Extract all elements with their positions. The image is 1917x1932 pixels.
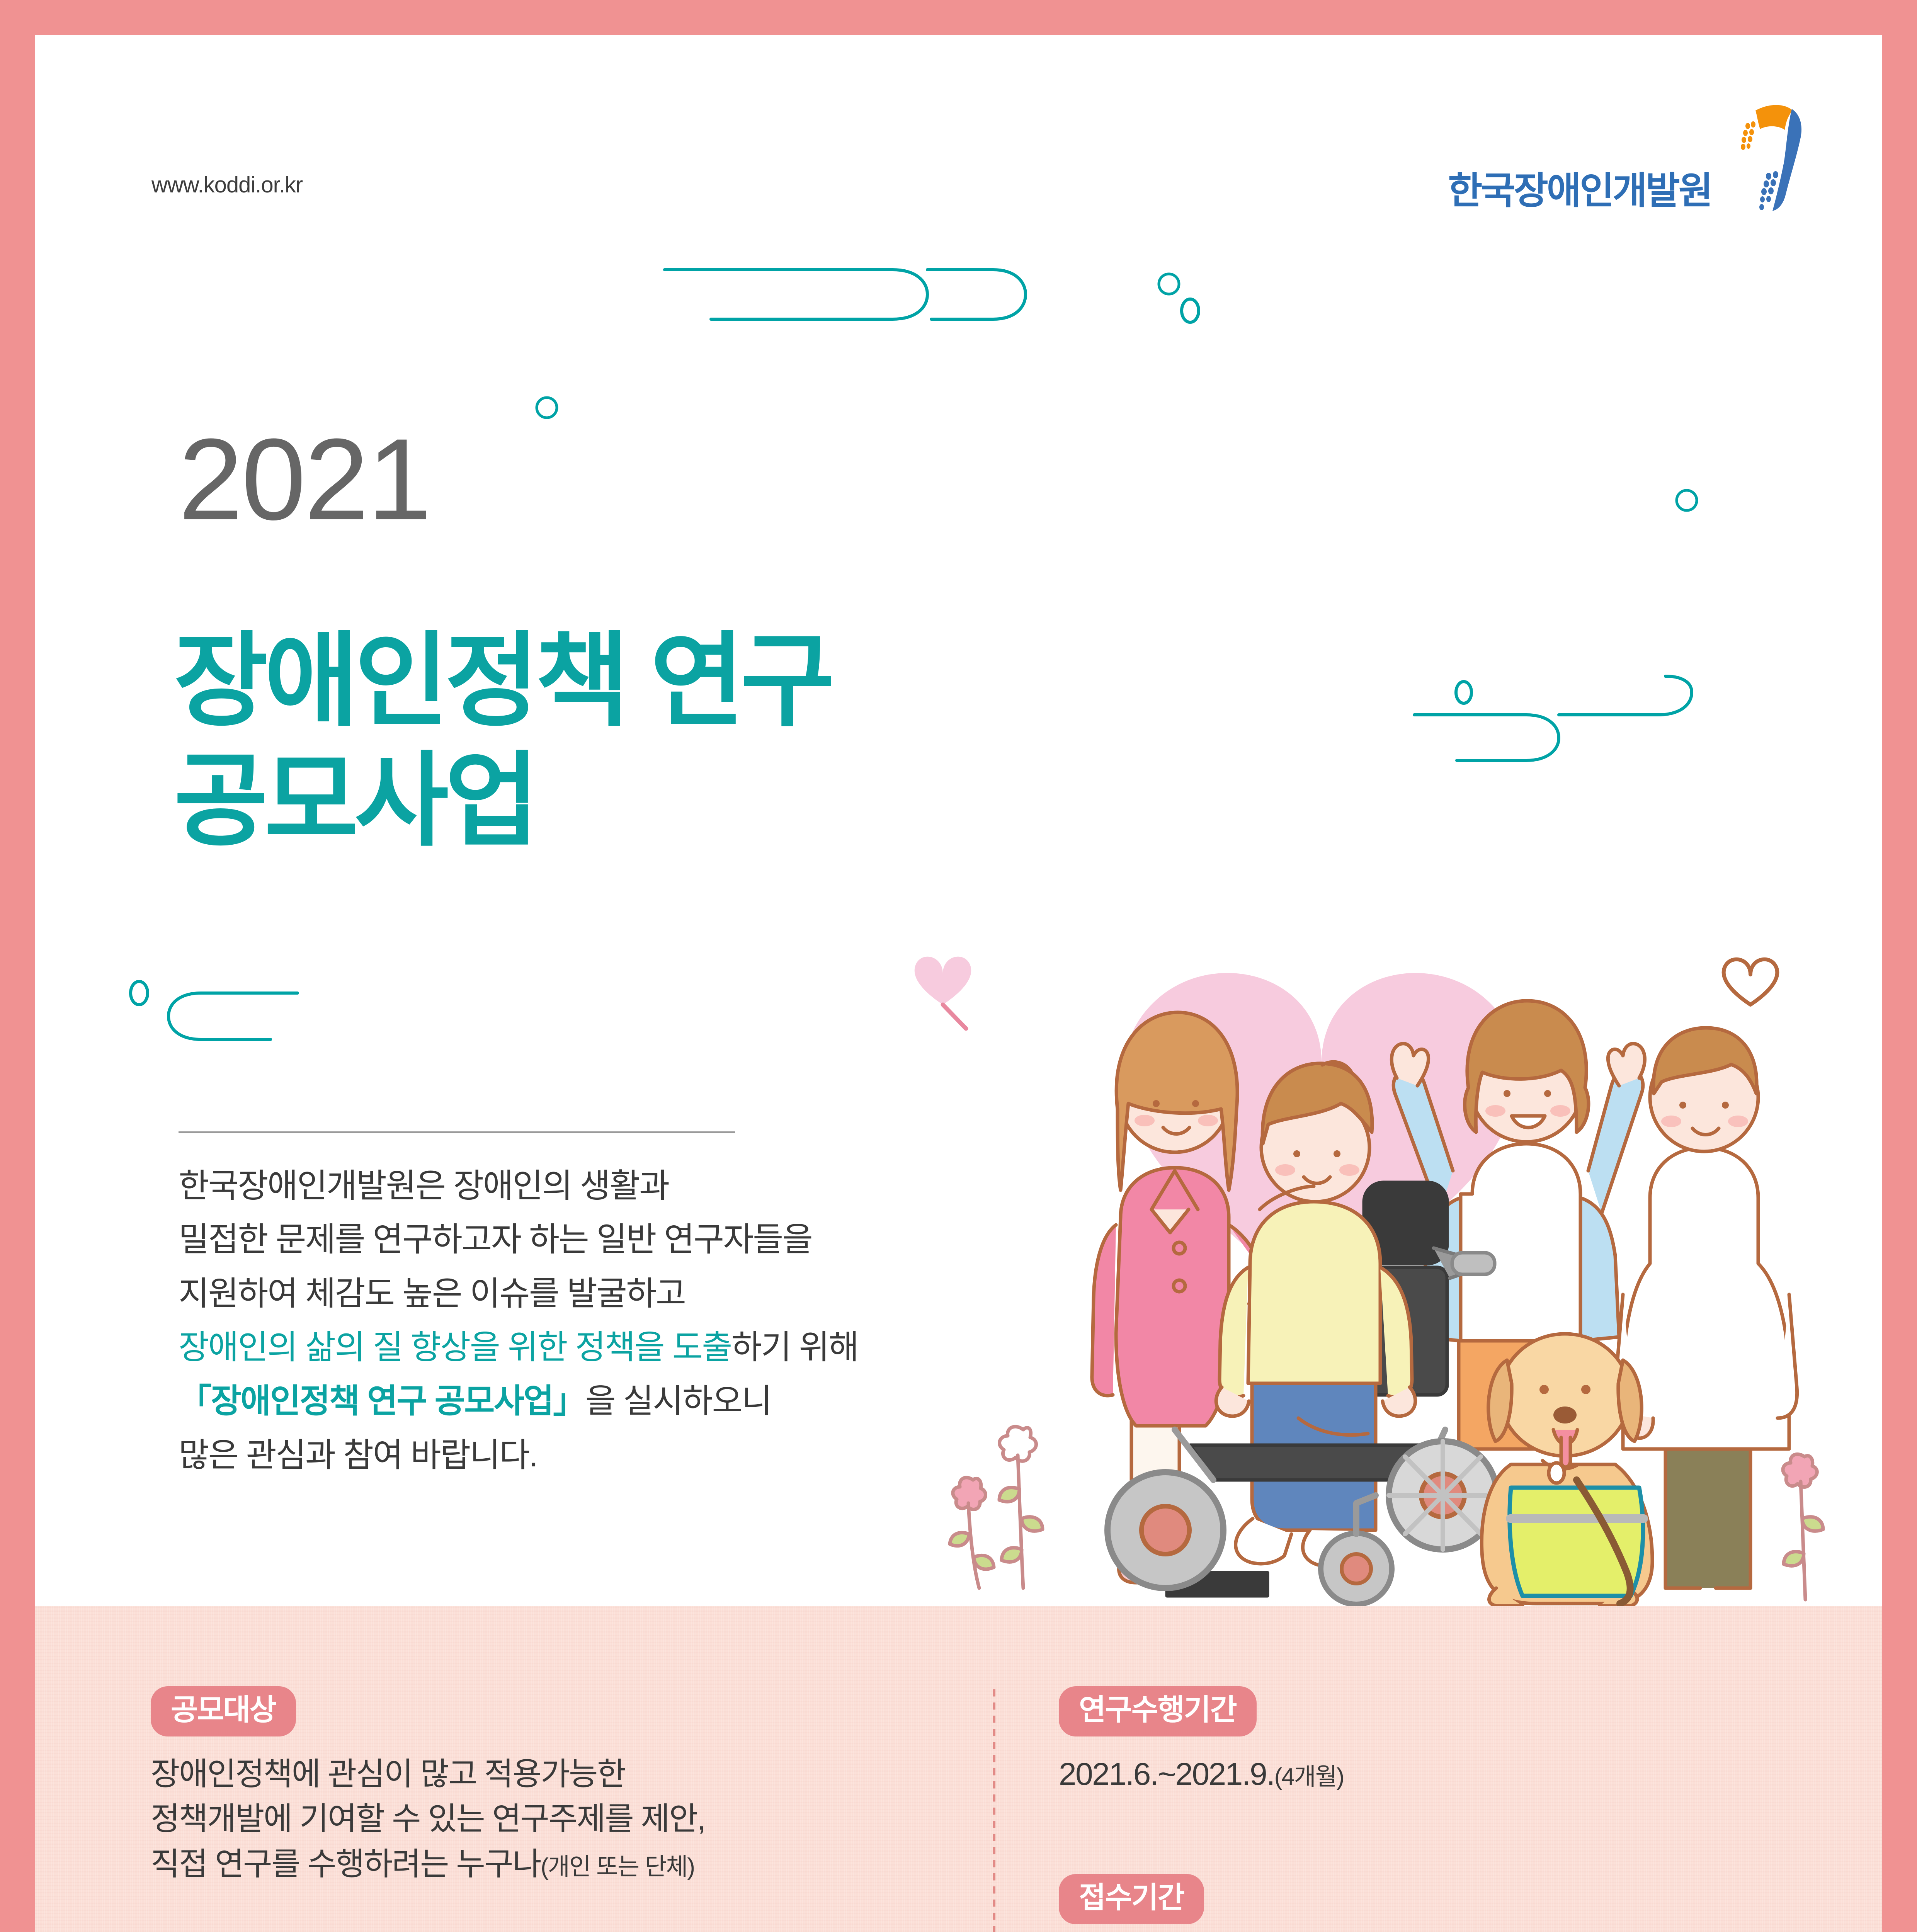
target-line-3-note: (개인 또는 단체)	[541, 1854, 694, 1880]
info-body-target: 장애인정책에 관심이 많고 적용가능한 정책개발에 기여할 수 있는 연구주제를…	[151, 1752, 705, 1887]
target-line-3: 직접 연구를 수행하려는 누구나(개인 또는 단체)	[151, 1842, 705, 1887]
badge-deadline: 접수기간	[1059, 1874, 1204, 1924]
logo-wordmark: 한국장애인개발원	[1448, 172, 1711, 213]
intro-line-4-rest: 하기 위해	[731, 1329, 858, 1366]
info-body-period: 2021.6.~2021.9.(4개월)	[1059, 1752, 1344, 1797]
intro-bracket-close: 」	[553, 1383, 585, 1420]
wave-decoration-top	[661, 228, 1209, 352]
period-line-1: 2021.6.~2021.9.(4개월)	[1059, 1752, 1344, 1797]
koddi-bird-logo-icon	[1720, 100, 1809, 213]
koddi-logo: 한국장애인개발원	[1448, 100, 1809, 213]
target-line-2: 정책개발에 기여할 수 있는 연구주제를 제안,	[151, 1797, 705, 1842]
wave-decoration-left	[104, 978, 344, 1063]
circle-decoration-b	[533, 394, 560, 421]
intro-highlight-program: 장애인정책 연구 공모사업	[211, 1383, 553, 1420]
badge-target: 공모대상	[151, 1686, 296, 1736]
info-block-target: 공모대상 장애인정책에 관심이 많고 적용가능한 정책개발에 기여할 수 있는 …	[151, 1686, 705, 1887]
period-duration: (4개월)	[1274, 1764, 1344, 1790]
hero-illustration	[920, 877, 1855, 1606]
poster-info-section: 공모대상 장애인정책에 관심이 많고 적용가능한 정책개발에 기여할 수 있는 …	[35, 1606, 1882, 1932]
period-dates: 2021.6.~2021.9.	[1059, 1757, 1274, 1792]
target-line-1: 장애인정책에 관심이 많고 적용가능한	[151, 1752, 705, 1797]
wave-decoration-right	[1410, 672, 1696, 765]
badge-period: 연구수행기간	[1059, 1686, 1257, 1736]
headline-year: 2021	[179, 421, 430, 537]
column-divider	[993, 1689, 995, 1932]
site-url[interactable]: www.koddi.or.kr	[151, 172, 303, 198]
headline-line-2: 공모사업	[174, 741, 831, 861]
headline-line-1: 장애인정책 연구	[174, 621, 831, 741]
intro-bracket-open: 「	[179, 1383, 211, 1420]
info-block-period: 연구수행기간 2021.6.~2021.9.(4개월)	[1059, 1686, 1344, 1797]
target-line-3-main: 직접 연구를 수행하려는 누구나	[151, 1847, 541, 1882]
info-block-deadline: 접수기간 2021.4.12.(월)~4.30.(금) 18:00	[1059, 1874, 1459, 1932]
intro-line-5-rest: 을 실시하오니	[585, 1383, 771, 1420]
poster-canvas: www.koddi.or.kr 한국장애인개발원	[35, 35, 1882, 1932]
poster-top-section: www.koddi.or.kr 한국장애인개발원	[35, 35, 1882, 1606]
intro-highlight-policy: 장애인의 삶의 질 향상을 위한 정책을 도출	[179, 1329, 731, 1366]
circle-decoration-a	[1155, 270, 1182, 298]
intro-divider	[179, 1131, 735, 1133]
circle-decoration-c	[1673, 487, 1700, 514]
page-title: 장애인정책 연구 공모사업	[174, 621, 831, 861]
